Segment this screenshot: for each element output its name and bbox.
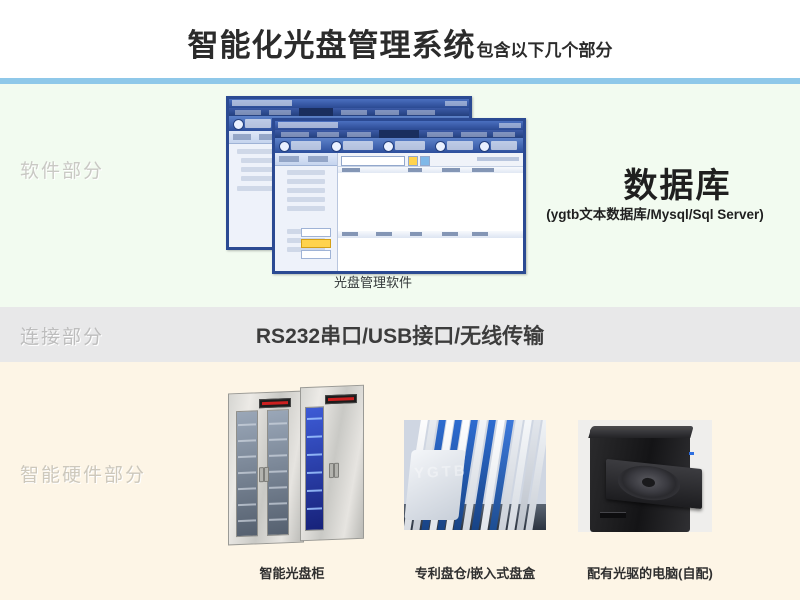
caption-hardware-magazine: 专利盘仓/嵌入式盘盒 — [390, 563, 560, 582]
hardware-image-disc-magazine: YGTB — [404, 420, 546, 530]
search-toolbar — [338, 153, 523, 167]
form-field-highlighted[interactable] — [301, 239, 331, 248]
grid-rows-secondary — [338, 238, 523, 272]
search-input[interactable] — [341, 156, 405, 166]
database-subtitle: (ygtb文本数据库/Mysql/Sql Server) — [510, 203, 800, 223]
window-titlebar — [229, 99, 469, 108]
poster-root: 智能化光盘管理系统包含以下几个部分 软件部分 — [0, 0, 800, 600]
section-label-hardware: 智能硬件部分 — [20, 460, 146, 487]
form-field-1[interactable] — [301, 228, 331, 237]
software-screenshot-group — [226, 96, 520, 268]
window-toolbar[interactable] — [275, 138, 523, 154]
app-window-front[interactable] — [272, 118, 526, 274]
database-title: 数据库 — [555, 158, 800, 207]
window-left-panel — [275, 153, 338, 271]
window-titlebar — [275, 121, 523, 130]
cabinet-unit-right — [300, 385, 364, 541]
grid-rows — [338, 173, 523, 232]
window-control-buttons[interactable] — [499, 123, 521, 128]
window-menubar — [229, 108, 469, 116]
window-body — [275, 153, 523, 271]
connection-methods-text: RS232串口/USB接口/无线传输 — [180, 320, 620, 350]
title-main-text: 智能化光盘管理系统 — [188, 28, 476, 63]
title-band: 智能化光盘管理系统包含以下几个部分 — [0, 0, 800, 78]
window-right-panel — [338, 153, 523, 271]
caption-hardware-cabinet: 智能光盘柜 — [216, 563, 368, 582]
caption-hardware-computer: 配有光驱的电脑(自配) — [560, 563, 740, 582]
window-title-text — [278, 122, 338, 128]
caption-software: 光盘管理软件 — [226, 272, 520, 291]
form-field-3[interactable] — [301, 250, 331, 259]
title-sub-text: 包含以下几个部分 — [477, 41, 613, 60]
panel-tabs[interactable] — [275, 153, 337, 166]
hardware-image-cabinet — [216, 382, 368, 550]
window-control-buttons — [445, 101, 467, 106]
cabinet-unit-left — [228, 391, 304, 546]
window-menubar[interactable] — [275, 130, 523, 138]
section-label-software: 软件部分 — [20, 156, 104, 183]
window-title-text — [232, 100, 292, 106]
page-title: 智能化光盘管理系统包含以下几个部分 — [0, 20, 800, 65]
section-label-connection: 连接部分 — [20, 322, 104, 349]
hardware-image-computer — [578, 420, 712, 532]
